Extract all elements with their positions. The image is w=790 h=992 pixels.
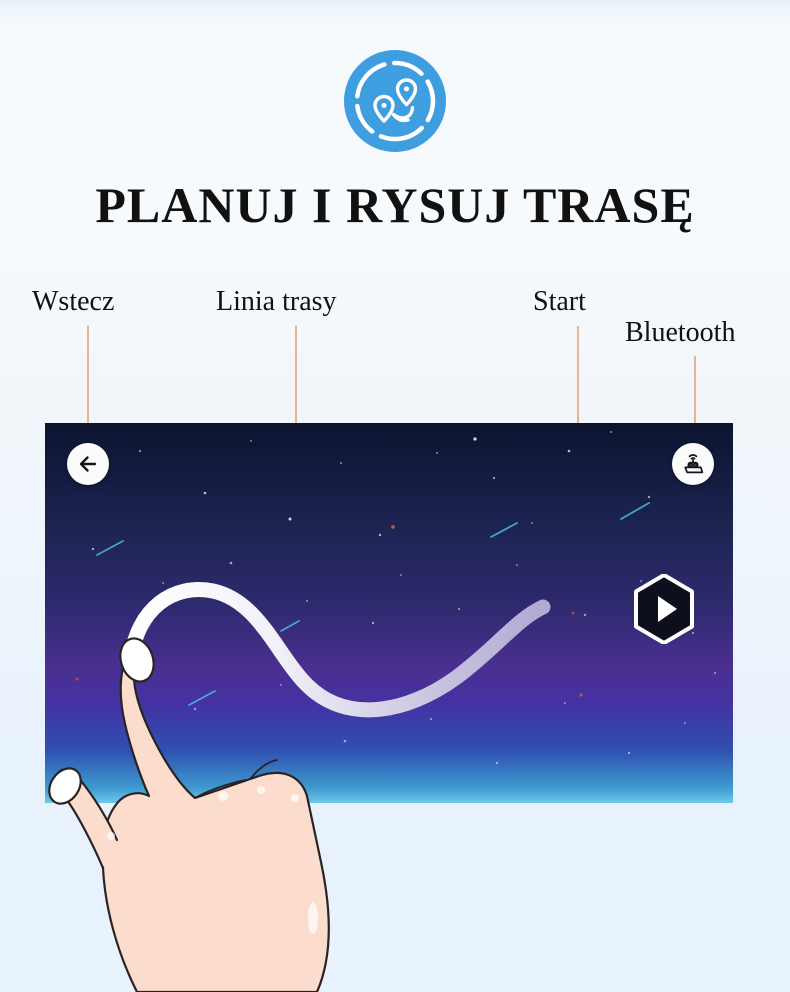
callout-label-start: Start [533,286,586,318]
callout-label-bluetooth: Bluetooth [625,317,735,349]
route-pins-logo-icon [344,50,446,152]
starfield [45,423,733,803]
callout-label-linia-trasy: Linia trasy [216,286,337,318]
callout-label-wstecz: Wstecz [32,286,114,318]
back-button[interactable] [67,443,109,485]
page-title: PLANUJ I RYSUJ TRASĘ [0,176,790,234]
logo-container [0,50,790,152]
play-triangle-icon [633,574,695,644]
device-screen [45,423,733,803]
start-button[interactable] [633,574,695,644]
app-logo [344,50,446,152]
robot-car-signal-icon [679,450,707,478]
arrow-left-icon [76,452,100,476]
bluetooth-button[interactable] [672,443,714,485]
